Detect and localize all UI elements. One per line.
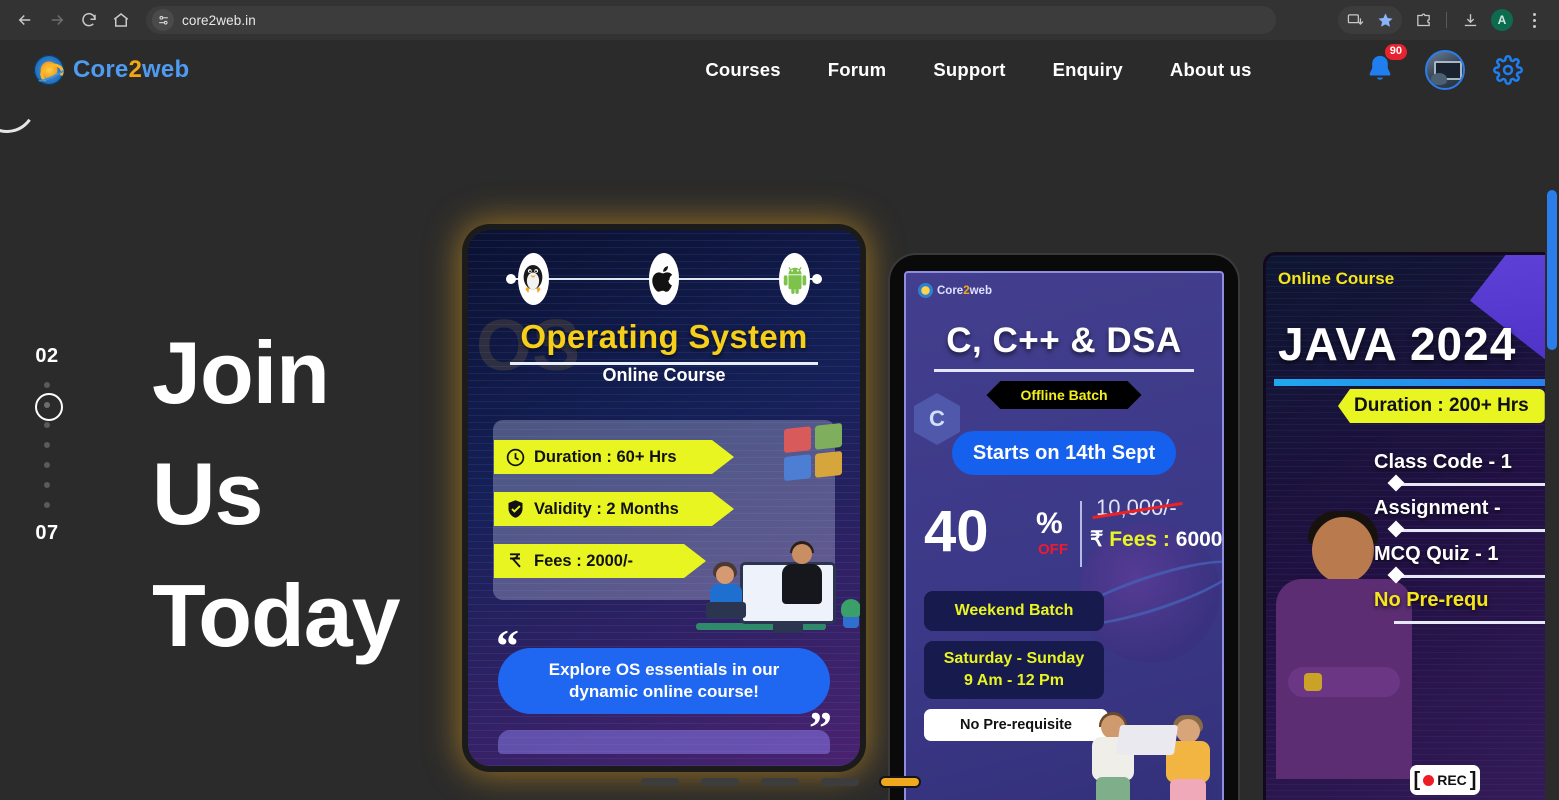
- feature-text: Validity : 2 Months: [534, 500, 679, 519]
- install-app-button[interactable]: [1340, 5, 1370, 35]
- toolbar-divider: [1446, 12, 1447, 28]
- pager-dot-4[interactable]: [44, 442, 50, 448]
- person-girl: [704, 562, 752, 624]
- penguin-glyph: [518, 263, 548, 295]
- card3-eyebrow: Online Course: [1278, 269, 1394, 289]
- carousel-dot-3[interactable]: [761, 778, 799, 786]
- scrollbar-thumb[interactable]: [1547, 190, 1557, 350]
- card3-title: JAVA 2024: [1278, 317, 1516, 371]
- download-icon: [1462, 12, 1479, 29]
- brand-part-1: Core: [73, 56, 128, 83]
- linux-penguin-icon: [518, 253, 549, 305]
- card3-item-mcq-quiz: MCQ Quiz - 1: [1374, 543, 1498, 566]
- android-icon: [779, 253, 810, 305]
- card2-badge: Offline Batch: [986, 381, 1141, 409]
- settings-button[interactable]: [1493, 55, 1523, 85]
- back-arrow-icon: [16, 11, 34, 29]
- pager-dot-5[interactable]: [44, 462, 50, 468]
- downloads-button[interactable]: [1455, 5, 1485, 35]
- card1-feature-duration: Duration : 60+ Hrs: [494, 440, 734, 474]
- reload-icon: [80, 11, 98, 29]
- plant-shape: [840, 598, 860, 628]
- profile-initial: A: [1491, 9, 1513, 31]
- carousel-dot-5[interactable]: [881, 778, 919, 786]
- home-icon: [112, 11, 130, 29]
- home-button[interactable]: [106, 5, 136, 35]
- pager-total: 07: [35, 522, 58, 545]
- card2-inner: Core2web C, C++ & DSA Offline Batch C St…: [904, 271, 1224, 800]
- card2-divider: [934, 369, 1194, 372]
- course-card-c-cpp-dsa[interactable]: Core2web C, C++ & DSA Offline Batch C St…: [890, 255, 1238, 800]
- price-divider: [1080, 501, 1082, 567]
- user-avatar-button[interactable]: [1425, 50, 1465, 90]
- omnibox-actions: [1338, 6, 1402, 34]
- os-icon-row: [468, 252, 860, 306]
- card2-start-date: Starts on 14th Sept: [952, 431, 1176, 475]
- carousel-dot-1[interactable]: [641, 778, 679, 786]
- clock-icon: [504, 446, 526, 468]
- pager-dot-3[interactable]: [44, 422, 50, 428]
- card2-title: C, C++ & DSA: [906, 321, 1222, 361]
- c-plus-plus-icon: C: [914, 393, 960, 445]
- page-scrollbar[interactable]: [1545, 80, 1559, 800]
- card3-duration: Duration : 200+ Hrs: [1338, 389, 1545, 423]
- puzzle-icon: [1415, 12, 1432, 29]
- brand-part-2: 2: [128, 56, 142, 83]
- pager-dot-2[interactable]: [44, 402, 50, 408]
- card3-line-3: [1394, 575, 1559, 578]
- course-card-operating-system[interactable]: Operating System Online Course Duration …: [468, 230, 860, 766]
- person-man: [780, 544, 824, 608]
- schedule-time: 9 Am - 12 Pm: [964, 670, 1064, 692]
- site-settings-icon[interactable]: [152, 9, 174, 31]
- discount-off-label: OFF: [1038, 541, 1068, 558]
- card3-line-1: [1394, 483, 1559, 486]
- back-button[interactable]: [10, 5, 40, 35]
- site-header: Core2web Courses Forum Support Enquiry A…: [0, 40, 1559, 100]
- card1-title: Operating System: [468, 318, 860, 356]
- address-bar[interactable]: core2web.in: [146, 6, 1276, 34]
- nav-item-enquiry[interactable]: Enquiry: [1053, 59, 1123, 81]
- notification-badge: 90: [1385, 44, 1407, 60]
- gear-icon: [1493, 55, 1523, 85]
- apple-glyph: [651, 264, 677, 294]
- windows-logo-icon: [784, 423, 842, 481]
- nav-item-forum[interactable]: Forum: [828, 59, 887, 81]
- card1-illustration: [700, 524, 850, 634]
- bookmark-button[interactable]: [1370, 5, 1400, 35]
- fees-value: 6000/-: [1176, 528, 1224, 551]
- fees-label: Fees :: [1109, 528, 1170, 551]
- forward-arrow-icon: [48, 11, 66, 29]
- hero-heading: Join Us Today: [152, 312, 400, 676]
- carousel-pagination: [0, 778, 1559, 786]
- card1-quote: Explore OS essentials in our dynamic onl…: [498, 648, 830, 714]
- connector-cap-left: [506, 274, 516, 284]
- laptop-shape: [1116, 725, 1178, 755]
- card1-feature-validity: Validity : 2 Months: [494, 492, 734, 526]
- android-glyph: [781, 264, 809, 294]
- shield-check-icon: [504, 498, 526, 520]
- hero-line-3: Today: [152, 555, 400, 676]
- forward-button[interactable]: [42, 5, 72, 35]
- notifications-button[interactable]: 90: [1363, 53, 1397, 87]
- pager-dots: [44, 382, 50, 508]
- course-card-java-2024[interactable]: Online Course JAVA 2024 Duration : 200+ …: [1266, 255, 1559, 800]
- apple-icon: [649, 253, 680, 305]
- reload-button[interactable]: [74, 5, 104, 35]
- discount-percent-sign: %: [1036, 507, 1063, 541]
- card3-line-2: [1394, 529, 1559, 532]
- profile-button[interactable]: A: [1487, 5, 1517, 35]
- card1-subtitle: Online Course: [468, 365, 860, 386]
- vertical-pagination: 02 07: [24, 345, 70, 545]
- card2-pricing: 40 % OFF 10,000/- ₹ Fees : 6000/-: [920, 495, 1212, 583]
- card1-footer-bar: [498, 730, 830, 754]
- card1-feature-fees: Fees : 2000/-: [494, 544, 706, 578]
- card2-brand: Core2web: [918, 283, 992, 298]
- card3-no-prerequisite: No Pre-requ: [1374, 589, 1488, 612]
- header-actions: 90: [1363, 50, 1523, 90]
- schedule-days: Saturday - Sunday: [944, 648, 1084, 670]
- feature-text: Fees : 2000/-: [534, 552, 633, 571]
- card2-schedule: Saturday - Sunday 9 Am - 12 Pm: [924, 641, 1104, 699]
- main-nav: Courses Forum Support Enquiry About us: [705, 59, 1251, 81]
- carousel-dot-2[interactable]: [701, 778, 739, 786]
- hero-line-2: Us: [152, 433, 400, 554]
- site-logo[interactable]: Core2web: [34, 55, 189, 85]
- three-dot-menu-icon: [1533, 13, 1536, 28]
- fees-line: ₹ Fees : 6000/-: [1090, 527, 1224, 552]
- card2-batch: Weekend Batch: [924, 591, 1104, 631]
- card3-line-4: [1394, 621, 1559, 624]
- old-price: 10,000/-: [1096, 495, 1177, 521]
- nav-item-support[interactable]: Support: [933, 59, 1005, 81]
- card3-item-class-code: Class Code - 1: [1374, 451, 1512, 474]
- brand-part-3: web: [970, 285, 992, 297]
- brand-part-3: web: [142, 56, 189, 83]
- card3-item-assignment: Assignment -: [1374, 497, 1501, 520]
- core2web-logo-icon: [34, 55, 64, 85]
- carousel-dot-4[interactable]: [821, 778, 859, 786]
- quote-text: Explore OS essentials in our dynamic onl…: [516, 659, 812, 703]
- browser-actions: A: [1338, 5, 1549, 35]
- chrome-menu-button[interactable]: [1519, 5, 1549, 35]
- avatar: [1425, 50, 1465, 90]
- card3-divider: [1274, 379, 1559, 386]
- rupee-icon: [504, 550, 526, 572]
- pager-dot-1[interactable]: [44, 382, 50, 388]
- page-content: Core2web Courses Forum Support Enquiry A…: [0, 40, 1559, 800]
- brand-text: Core2web: [73, 56, 189, 84]
- desk-shape: [696, 623, 826, 630]
- rupee-symbol: ₹: [1090, 528, 1103, 551]
- pager-current: 02: [35, 345, 58, 368]
- feature-text: Duration : 60+ Hrs: [534, 448, 677, 467]
- discount-value: 40: [924, 503, 989, 561]
- url-text: core2web.in: [182, 13, 256, 28]
- nav-item-courses[interactable]: Courses: [705, 59, 780, 81]
- hero-line-1: Join: [152, 312, 400, 433]
- star-icon: [1377, 12, 1394, 29]
- pager-dot-6[interactable]: [44, 482, 50, 488]
- core2web-logo-icon: [918, 283, 933, 298]
- connector-cap-right: [812, 274, 822, 284]
- install-app-icon: [1347, 12, 1364, 29]
- extensions-button[interactable]: [1408, 5, 1438, 35]
- card2-brand-text: Core2web: [937, 285, 992, 297]
- pager-dot-7[interactable]: [44, 502, 50, 508]
- browser-toolbar: core2web.in A: [0, 0, 1559, 40]
- brand-part-1: Core: [937, 285, 963, 297]
- nav-item-about-us[interactable]: About us: [1170, 59, 1252, 81]
